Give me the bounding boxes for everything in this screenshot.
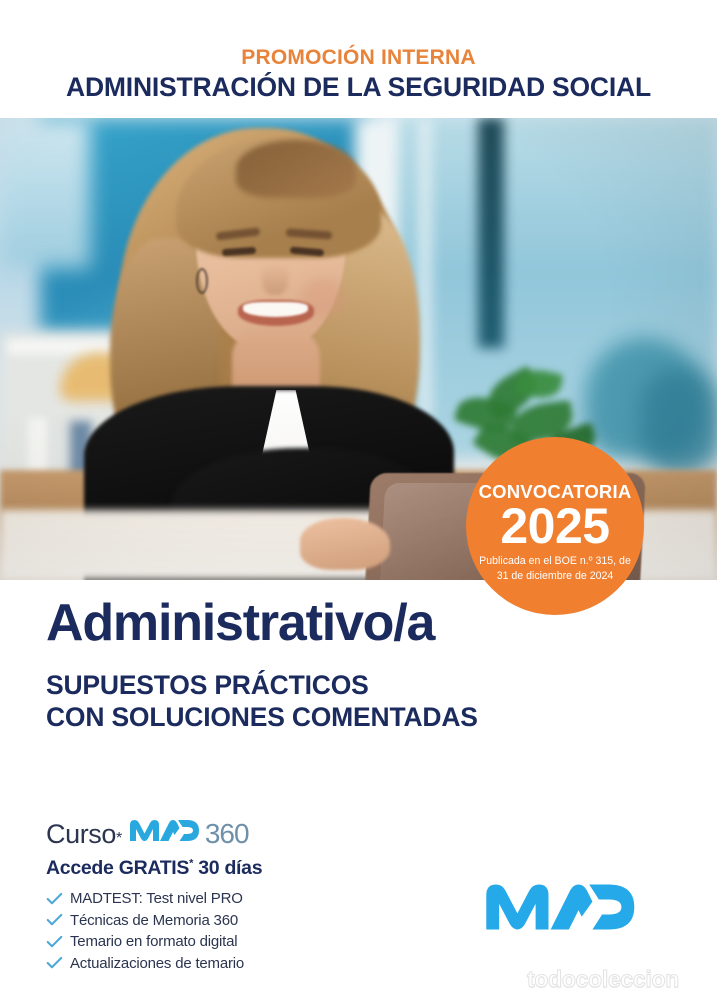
list-item-label: Técnicas de Memoria 360: [70, 912, 238, 929]
list-item: Técnicas de Memoria 360: [46, 912, 262, 929]
page-title: ADMINISTRACIÓN DE LA SEGURIDAD SOCIAL: [0, 72, 717, 103]
course-promo-block: Curso* 360 Accede GRATIS* 30 días MADTES…: [46, 818, 262, 988]
list-item: Temario en formato digital: [46, 933, 262, 950]
list-item: MADTEST: Test nivel PRO: [46, 890, 262, 907]
check-icon: [46, 892, 63, 906]
badge-year: 2025: [466, 497, 644, 555]
feature-list: MADTEST: Test nivel PRO Técnicas de Memo…: [46, 890, 262, 972]
list-item-label: Temario en formato digital: [70, 933, 237, 950]
watermark: todocoleccion: [527, 966, 679, 993]
header-kicker: PROMOCIÓN INTERNA: [0, 46, 717, 70]
book-subtitle: SUPUESTOS PRÁCTICOS CON SOLUCIONES COMEN…: [46, 669, 478, 733]
subtitle-line-1: SUPUESTOS PRÁCTICOS: [46, 669, 478, 701]
badge-note: Publicada en el BOE n.º 315, de 31 de di…: [476, 554, 634, 583]
cover-header: PROMOCIÓN INTERNA ADMINISTRACIÓN DE LA S…: [0, 0, 717, 118]
convocatoria-badge: CONVOCATORIA 2025 Publicada en el BOE n.…: [466, 437, 644, 615]
accede-prefix: Accede: [46, 857, 114, 879]
mad360-suffix: 360: [205, 818, 249, 850]
list-item-label: Actualizaciones de temario: [70, 955, 244, 972]
mad-wordmark-icon: [128, 818, 204, 843]
book-title: Administrativo/a: [46, 596, 478, 651]
mad-logo-icon: [482, 880, 645, 934]
check-icon: [46, 956, 63, 970]
accede-gratis: GRATIS: [119, 857, 189, 879]
course-asterisk: *: [116, 830, 122, 848]
check-icon: [46, 913, 63, 927]
subtitle-line-2: CON SOLUCIONES COMENTADAS: [46, 701, 478, 733]
accede-days: 30 días: [198, 857, 262, 879]
mad360-logo: [128, 818, 204, 843]
list-item-label: MADTEST: Test nivel PRO: [70, 890, 243, 907]
list-item: Actualizaciones de temario: [46, 955, 262, 972]
course-brand-line: Curso* 360: [46, 818, 262, 850]
book-cover: PROMOCIÓN INTERNA ADMINISTRACIÓN DE LA S…: [0, 0, 717, 1000]
check-icon: [46, 935, 63, 949]
title-block: Administrativo/a SUPUESTOS PRÁCTICOS CON…: [46, 596, 478, 733]
course-label: Curso: [46, 819, 116, 850]
publisher-logo: [482, 880, 645, 939]
accede-asterisk: *: [189, 858, 193, 870]
accede-gratis-line: Accede GRATIS* 30 días: [46, 857, 262, 880]
